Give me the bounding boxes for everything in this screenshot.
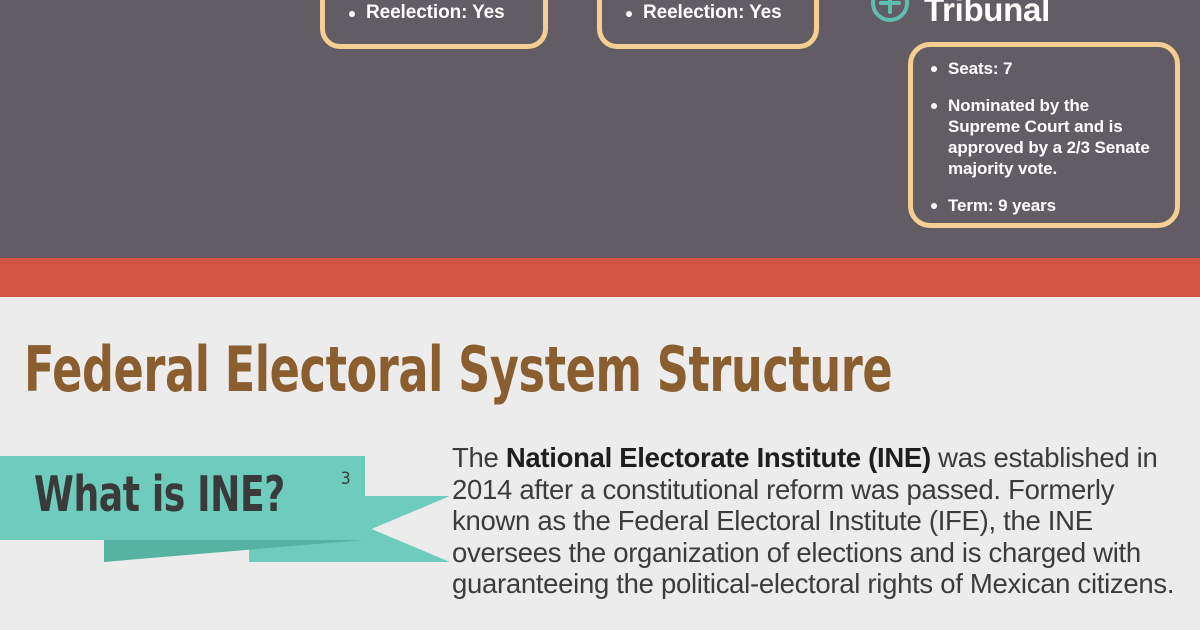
top-dark-panel: Reelection: Yes Reelection: Yes Tribunal: [0, 0, 1200, 258]
bullet-card-left: Reelection: Yes: [320, 0, 548, 49]
infographic-canvas: Reelection: Yes Reelection: Yes Tribunal: [0, 0, 1200, 630]
ine-description-paragraph: The National Electorate Institute (INE) …: [452, 442, 1180, 600]
bullet-dot-icon: [626, 11, 632, 17]
bullet-dot-icon: [931, 203, 937, 209]
bullet-dot-icon: [931, 66, 937, 72]
bullet-row: Reelection: Yes: [626, 2, 782, 24]
bullet-text: Reelection: Yes: [366, 2, 505, 24]
bullet-text: Reelection: Yes: [643, 2, 782, 24]
red-divider-band: [0, 258, 1200, 297]
footnote-marker: 3: [341, 469, 350, 489]
lower-section: Federal Electoral System Structure What …: [0, 297, 1200, 630]
list-item: Nominated by the Supreme Court and is ap…: [931, 95, 1165, 179]
page-title: Federal Electoral System Structure: [24, 333, 892, 406]
bullet-dot-icon: [349, 11, 355, 17]
bullet-text: Term: 9 years: [948, 195, 1056, 216]
bullet-dot-icon: [931, 103, 937, 109]
bullet-row: Reelection: Yes: [349, 2, 505, 24]
bullet-text: Nominated by the Supreme Court and is ap…: [948, 95, 1165, 179]
plus-circle-icon: [869, 0, 911, 24]
list-item: Term: 9 years: [931, 195, 1165, 216]
tribunal-bullet-list: Seats: 7 Nominated by the Supreme Court …: [931, 58, 1165, 232]
bullet-card-middle: Reelection: Yes: [597, 0, 819, 49]
tribunal-heading: Tribunal: [924, 0, 1050, 29]
list-item: Seats: 7: [931, 58, 1165, 79]
paragraph-bold-term: National Electorate Institute (INE): [506, 442, 931, 473]
bullet-text: Seats: 7: [948, 58, 1012, 79]
ribbon-banner: What is INE? 3: [0, 456, 450, 571]
tribunal-card: Seats: 7 Nominated by the Supreme Court …: [908, 42, 1180, 228]
ribbon-label: What is INE? 3: [34, 466, 350, 523]
ribbon-label-text: What is INE?: [34, 466, 285, 523]
paragraph-part-1: The: [452, 442, 506, 473]
